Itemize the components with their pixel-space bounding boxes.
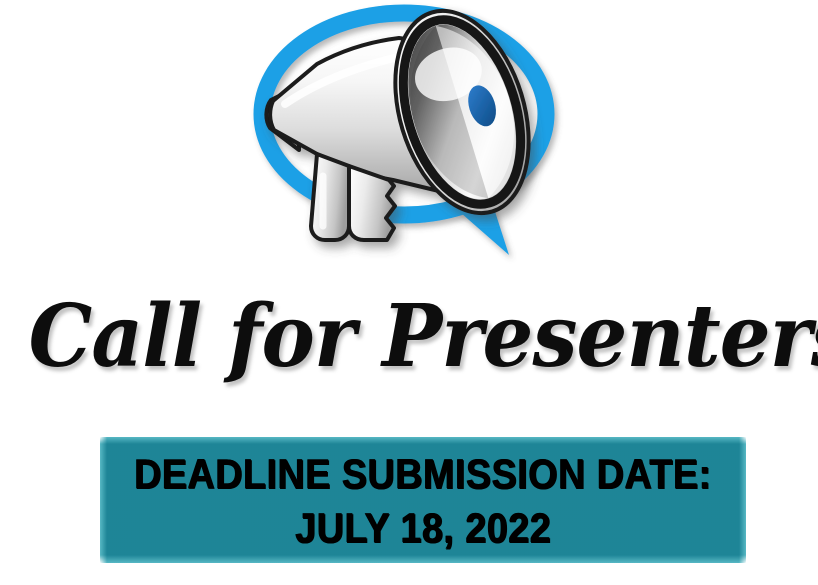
deadline-banner: DEADLINE SUBMISSION DATE: JULY 18, 2022 <box>100 437 746 563</box>
deadline-date: JULY 18, 2022 <box>295 507 551 549</box>
deadline-label: DEADLINE SUBMISSION DATE: <box>134 453 712 495</box>
poster-canvas: Call for Presenters DEADLINE SUBMISSION … <box>0 0 818 585</box>
megaphone-speech-bubble-illustration <box>247 0 577 272</box>
page-title: Call for Presenters <box>29 292 790 382</box>
